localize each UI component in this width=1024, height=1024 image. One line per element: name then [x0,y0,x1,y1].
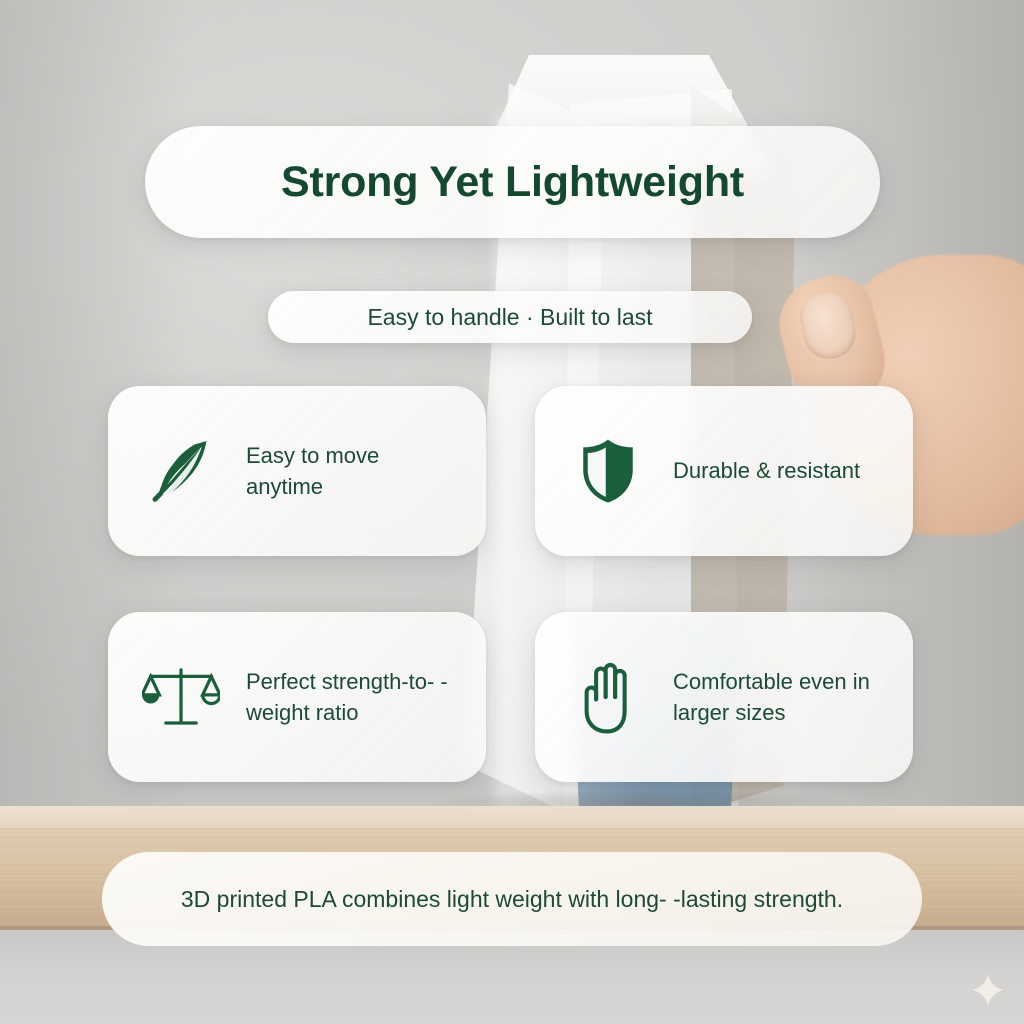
feature-label: Comfortable even in larger sizes [673,666,887,728]
footer-description: 3D printed PLA combines light weight wit… [181,882,843,917]
feature-card-comfortable[interactable]: Comfortable even in larger sizes [535,612,913,782]
feature-label: Easy to move anytime [246,440,460,502]
sparkle-icon [970,972,1006,1008]
feature-label: Perfect strength-to- -weight ratio [246,666,460,728]
shield-icon [569,432,647,510]
scales-icon [142,658,220,736]
title-pill: Strong Yet Lightweight [145,126,880,238]
open-hand-icon [569,658,647,736]
page-title: Strong Yet Lightweight [281,158,744,207]
feature-card-strength-to-weight[interactable]: Perfect strength-to- -weight ratio [108,612,486,782]
footer-pill: 3D printed PLA combines light weight wit… [102,852,922,946]
feather-icon [142,432,220,510]
infographic-overlay: Strong Yet Lightweight Easy to handle · … [0,0,1024,1024]
page-subtitle: Easy to handle · Built to last [367,304,652,331]
feature-card-easy-to-move[interactable]: Easy to move anytime [108,386,486,556]
feature-card-durable[interactable]: Durable & resistant [535,386,913,556]
feature-label: Durable & resistant [673,455,860,486]
subtitle-pill: Easy to handle · Built to last [268,291,752,343]
